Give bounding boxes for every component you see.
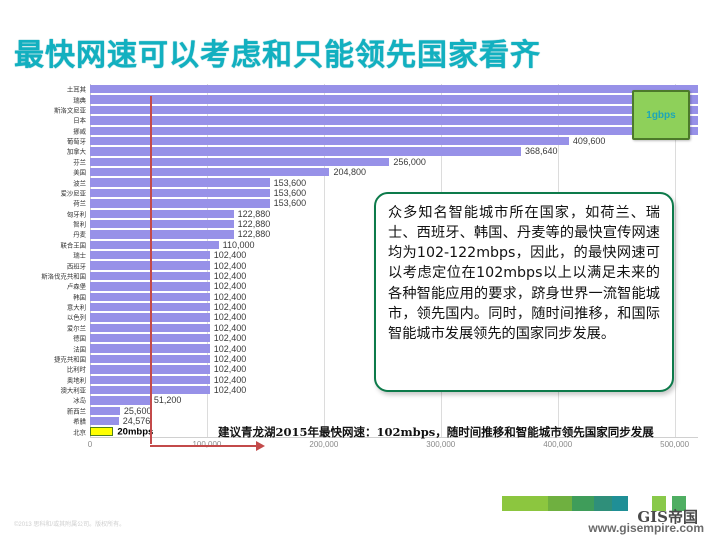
bar: [90, 95, 698, 103]
data-label: 102,400: [210, 292, 247, 302]
category-label: 奥地利: [6, 375, 86, 384]
category-label: 挪威: [6, 126, 86, 135]
category-label: 斯洛文尼亚: [6, 105, 86, 114]
category-label: 波兰: [6, 178, 86, 187]
data-label: 122,880: [234, 219, 271, 229]
gbps-badge-label: 1gbps: [646, 110, 675, 121]
bar: [90, 210, 234, 218]
category-label: 瑞典: [6, 95, 86, 104]
recommendation-annotation: 建议青龙湖2015年最快网速：102mbps，随时间推移和智能城市领先国家同步发…: [218, 424, 654, 440]
bar: [90, 147, 521, 155]
bar-row: 新西兰25,600: [90, 406, 698, 416]
bar-row: 挪威: [90, 126, 698, 136]
data-label: 102,400: [210, 333, 247, 343]
data-label: 102,400: [210, 344, 247, 354]
x-axis-tick: 500,000: [660, 440, 689, 449]
data-label: 122,880: [234, 209, 271, 219]
category-label: 匈牙利: [6, 209, 86, 218]
bar: [90, 417, 119, 425]
copyright-text: ©2013 思科和/或其附属公司。版权所有。: [14, 519, 125, 528]
bar-row: 日本: [90, 115, 698, 125]
callout-text: 众多知名智能城市所在国家，如荷兰、瑞士、西班牙、韩国、丹麦等的最快宣传网速均为1…: [388, 203, 660, 344]
bar: [90, 220, 234, 228]
category-label: 德国: [6, 334, 86, 343]
x-axis-tick: 200,000: [309, 440, 338, 449]
bar-row: 冰岛51,200: [90, 395, 698, 405]
bar: [90, 230, 234, 238]
bar: [90, 241, 219, 249]
arrow-head: [256, 441, 265, 451]
annotation-arrow: [150, 440, 268, 451]
bar-row: 斯洛文尼亚: [90, 105, 698, 115]
bar: [90, 127, 698, 135]
data-label: 102,400: [210, 375, 247, 385]
category-label: 比利时: [6, 365, 86, 374]
bar: [90, 396, 150, 404]
bar-row: 芬兰256,000: [90, 157, 698, 167]
logo-swatch: [502, 496, 548, 511]
bar: [90, 137, 569, 145]
data-label: 102,400: [210, 281, 247, 291]
bar: [90, 116, 698, 124]
data-label: 102,400: [210, 302, 247, 312]
data-label: 20mbps: [113, 426, 153, 437]
category-label: 土耳其: [6, 85, 86, 94]
bar-row: 葡萄牙409,600: [90, 136, 698, 146]
bar: [90, 189, 270, 197]
brand-logo: GIS帝国 www.gisempire.com: [502, 496, 712, 536]
category-label: 日本: [6, 116, 86, 125]
data-label: 102,400: [210, 364, 247, 374]
data-label: 409,600: [569, 136, 606, 146]
category-label: 美国: [6, 168, 86, 177]
category-label: 意大利: [6, 303, 86, 312]
page-title: 最快网速可以考虑和只能领先国家看齐: [14, 30, 541, 74]
data-label: 24,576: [119, 416, 151, 426]
data-label: 153,600: [270, 178, 307, 188]
data-label: 256,000: [389, 157, 426, 167]
gbps-badge: 1gbps: [632, 90, 690, 140]
x-axis-tick: 0: [88, 440, 92, 449]
category-label: 希腊: [6, 417, 86, 426]
category-label: 联合王国: [6, 240, 86, 249]
bar-row: 土耳其: [90, 84, 698, 94]
category-label: 芬兰: [6, 157, 86, 166]
data-label: 153,600: [270, 198, 307, 208]
category-label: 冰岛: [6, 396, 86, 405]
brand-url: www.gisempire.com: [588, 521, 704, 535]
arrow-shaft: [150, 445, 258, 447]
data-label: 102,400: [210, 312, 247, 322]
data-label: 368,640: [521, 146, 558, 156]
data-label: 153,600: [270, 188, 307, 198]
category-label: 爱尔兰: [6, 323, 86, 332]
bar-row: 波兰153,600: [90, 177, 698, 187]
category-label: 以色列: [6, 313, 86, 322]
bar: [90, 199, 270, 207]
category-label: 卢森堡: [6, 282, 86, 291]
bar: [90, 106, 698, 114]
category-label: 北京: [6, 427, 86, 436]
data-label: 102,400: [210, 385, 247, 395]
data-label: 122,880: [234, 229, 271, 239]
category-label: 斯洛伐克共和国: [6, 271, 86, 280]
logo-swatch: [594, 496, 612, 511]
data-label: 25,600: [120, 406, 152, 416]
slide-footer: ©2013 思科和/或其附属公司。版权所有。 GIS帝国 www.gisempi…: [0, 492, 720, 540]
category-label: 捷克共和国: [6, 354, 86, 363]
category-label: 韩国: [6, 292, 86, 301]
data-label: 110,000: [219, 240, 255, 250]
x-axis-tick: 300,000: [426, 440, 455, 449]
bar: [90, 85, 698, 93]
bar: [90, 178, 270, 186]
category-label: 荷兰: [6, 199, 86, 208]
category-label: 葡萄牙: [6, 137, 86, 146]
callout-box: 众多知名智能城市所在国家，如荷兰、瑞士、西班牙、韩国、丹麦等的最快宣传网速均为1…: [374, 192, 674, 392]
category-label: 新西兰: [6, 406, 86, 415]
category-label: 瑞士: [6, 251, 86, 260]
data-label: 102,400: [210, 354, 247, 364]
data-label: 51,200: [150, 395, 182, 405]
category-label: 西班牙: [6, 261, 86, 270]
slide-canvas: 最快网速可以考虑和只能领先国家看齐 土耳其瑞典斯洛文尼亚日本挪威葡萄牙409,6…: [0, 0, 720, 540]
bar: [90, 427, 113, 435]
data-label: 102,400: [210, 250, 247, 260]
data-label: 204,800: [329, 167, 366, 177]
category-label: 加拿大: [6, 147, 86, 156]
bar: [90, 407, 120, 415]
category-label: 智利: [6, 220, 86, 229]
connector-line: [150, 96, 152, 444]
x-axis-tick: 400,000: [543, 440, 572, 449]
data-label: 102,400: [210, 323, 247, 333]
logo-swatch: [612, 496, 628, 511]
bar-row: 瑞典: [90, 94, 698, 104]
category-label: 澳大利亚: [6, 386, 86, 395]
category-label: 爱沙尼亚: [6, 188, 86, 197]
logo-swatch: [548, 496, 572, 511]
data-label: 102,400: [210, 271, 247, 281]
category-label: 法国: [6, 344, 86, 353]
category-label: 丹麦: [6, 230, 86, 239]
bar: [90, 168, 329, 176]
bar-row: 美国204,800: [90, 167, 698, 177]
bar-row: 加拿大368,640: [90, 146, 698, 156]
bar: [90, 158, 389, 166]
data-label: 102,400: [210, 261, 247, 271]
logo-swatch: [572, 496, 594, 511]
